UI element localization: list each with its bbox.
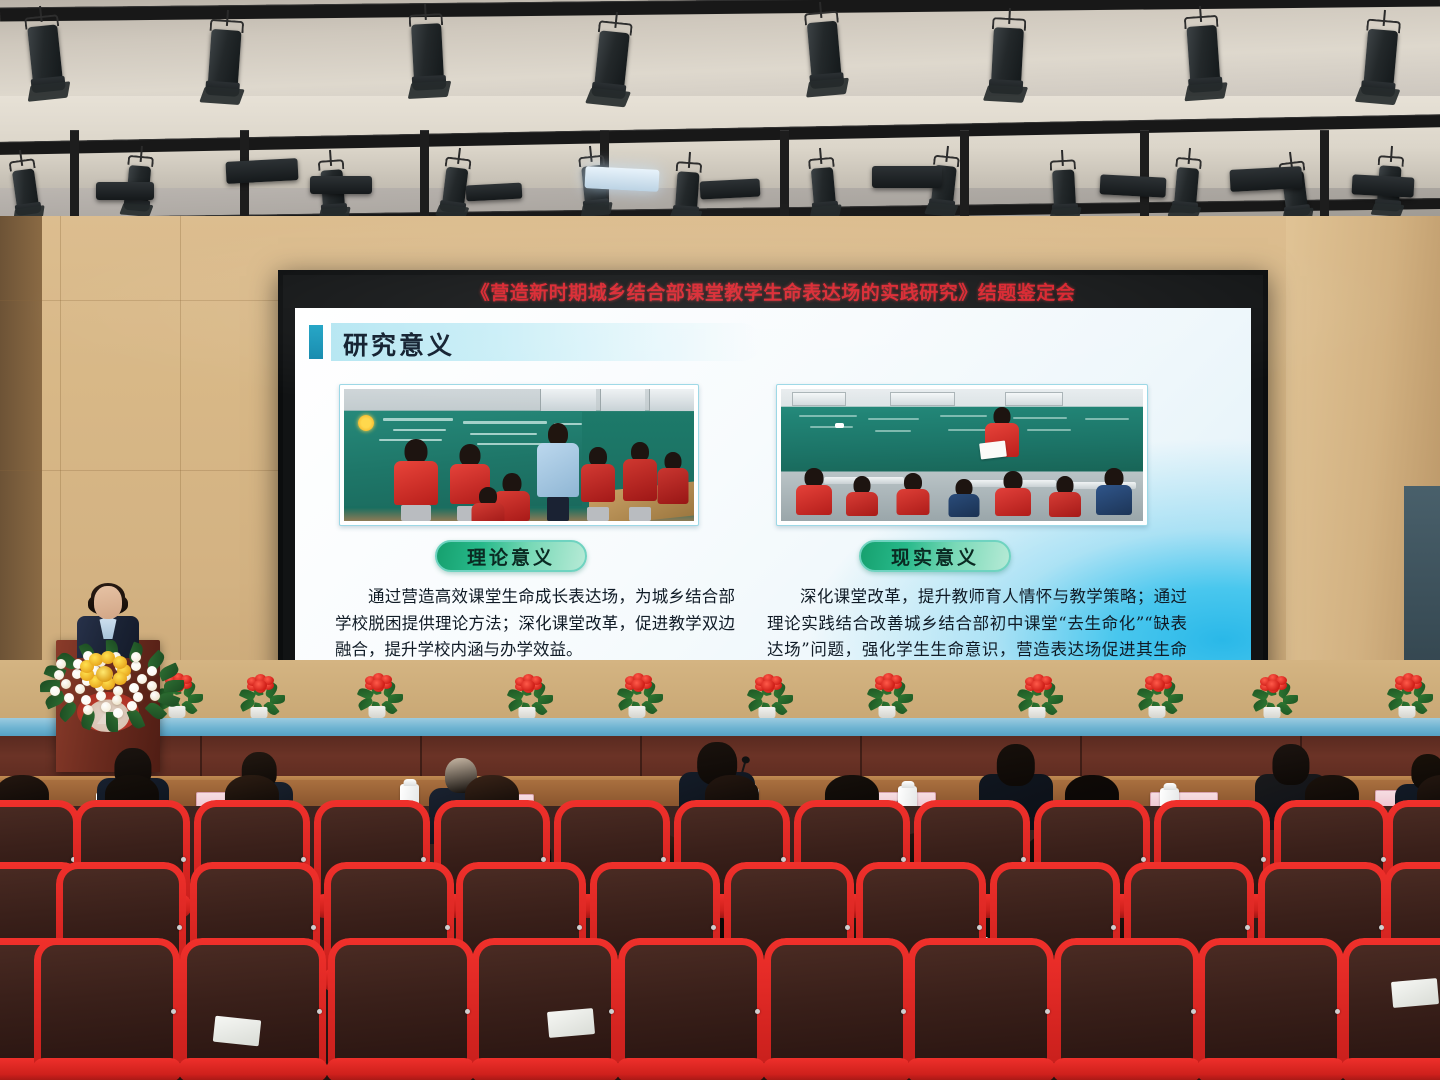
truss-support-7 bbox=[1320, 130, 1329, 226]
panel-light-5 bbox=[1100, 174, 1167, 197]
handout-paper-1 bbox=[213, 1016, 261, 1047]
photo-classroom-presentation bbox=[781, 389, 1143, 521]
stage-flower-8 bbox=[1130, 672, 1184, 718]
stage-ledge-trim bbox=[0, 718, 1440, 738]
chair-stud bbox=[1261, 857, 1266, 862]
chair-stud bbox=[181, 857, 186, 862]
chair-rim bbox=[34, 938, 180, 1068]
slide-text-theory: 通过营造高效课堂生命成长表达场，为城乡结合部学校脱困提供理论方法；深化课堂改革，… bbox=[335, 584, 735, 664]
chair-seat bbox=[32, 1058, 182, 1080]
truss-support-4 bbox=[780, 130, 789, 226]
slide-header-accent-bar bbox=[309, 325, 323, 359]
chair-seat bbox=[762, 1058, 912, 1080]
wall-seam-h0 bbox=[0, 300, 280, 301]
stage-flower-10 bbox=[1380, 672, 1434, 718]
photo-chalkboard-activity bbox=[344, 389, 694, 521]
chair-seat bbox=[470, 1058, 620, 1080]
panel-light-4 bbox=[872, 166, 942, 188]
slide-badge-row: 理论意义 现实意义 bbox=[339, 540, 1219, 574]
stage-flower-3 bbox=[500, 673, 554, 719]
stage-flower-6 bbox=[860, 672, 914, 718]
chair-stud bbox=[755, 1009, 760, 1014]
chair-rim bbox=[1198, 938, 1344, 1068]
chair-seat bbox=[1052, 1058, 1202, 1080]
slide-photo-group bbox=[339, 384, 1219, 526]
auditorium-chair[interactable] bbox=[478, 944, 612, 1062]
chair-stud bbox=[541, 857, 546, 862]
chair-rim bbox=[328, 938, 474, 1068]
chair-stud bbox=[1021, 857, 1026, 862]
led-screen-surface: 《营造新时期城乡结合部课堂教学生命表达场的实践研究》结题鉴定会 研究意义 bbox=[283, 275, 1263, 677]
wall-seam-h1 bbox=[0, 470, 280, 471]
chair-stud bbox=[1141, 857, 1146, 862]
chair-stud bbox=[301, 857, 306, 862]
chair-stud bbox=[609, 1009, 614, 1014]
panel-light-2 bbox=[584, 166, 659, 192]
chair-seat bbox=[326, 1058, 476, 1080]
slide-header: 研究意义 bbox=[309, 322, 789, 362]
stage-flower-7 bbox=[1010, 673, 1064, 719]
auditorium-chair[interactable] bbox=[1060, 944, 1194, 1062]
chair-rim bbox=[618, 938, 764, 1068]
panel-light-3 bbox=[700, 178, 761, 199]
auditorium-chair[interactable] bbox=[624, 944, 758, 1062]
chair-stud bbox=[781, 857, 786, 862]
chair-stud bbox=[171, 1009, 176, 1014]
truss-support-2 bbox=[420, 130, 429, 226]
stage-flower-4 bbox=[610, 672, 664, 718]
badge-practical-significance: 现实意义 bbox=[859, 540, 1011, 572]
badge-theory-significance: 理论意义 bbox=[435, 540, 587, 572]
truss-support-5 bbox=[960, 130, 969, 226]
chair-rim bbox=[908, 938, 1054, 1068]
chair-seat bbox=[1196, 1058, 1346, 1080]
handout-paper-2 bbox=[1391, 978, 1439, 1008]
panel-light-7 bbox=[96, 182, 154, 200]
presentation-slide: 研究意义 bbox=[295, 308, 1251, 669]
chair-rim bbox=[472, 938, 618, 1068]
badge-theory-label: 理论意义 bbox=[467, 543, 555, 570]
podium-flower-bouquet bbox=[36, 638, 186, 724]
panel-light-6 bbox=[1229, 166, 1302, 192]
chair-stud bbox=[465, 1009, 470, 1014]
conference-banner: 《营造新时期城乡结合部课堂教学生命表达场的实践研究》结题鉴定会 bbox=[283, 275, 1263, 308]
chair-seat bbox=[178, 1058, 328, 1080]
auditorium-chair[interactable] bbox=[334, 944, 468, 1062]
chair-stud bbox=[1191, 1009, 1196, 1014]
chair-stud bbox=[901, 1009, 906, 1014]
chair-rim bbox=[180, 938, 326, 1068]
chair-seat bbox=[1340, 1058, 1440, 1080]
auditorium-chair[interactable] bbox=[40, 944, 174, 1062]
panel-light-8 bbox=[1352, 174, 1415, 197]
stage-flower-2 bbox=[350, 672, 404, 718]
handout-paper-0 bbox=[547, 1008, 595, 1038]
presenter-head bbox=[94, 586, 122, 619]
conference-banner-text: 《营造新时期城乡结合部课堂教学生命表达场的实践研究》结题鉴定会 bbox=[471, 278, 1076, 305]
slide-title: 研究意义 bbox=[343, 326, 455, 362]
truss-support-0 bbox=[70, 130, 79, 226]
stage-flower-9 bbox=[1245, 673, 1299, 719]
front-row-head bbox=[997, 744, 1035, 786]
chair-stud bbox=[421, 857, 426, 862]
stage-lower-wall bbox=[0, 660, 1440, 720]
chair-seat bbox=[906, 1058, 1056, 1080]
chair-stud bbox=[1335, 1009, 1340, 1014]
badge-practical-label: 现实意义 bbox=[891, 543, 979, 570]
slide-text-practice: 深化课堂改革，提升教师育人情怀与教学策略；通过理论实践结合改善城乡结合部初中课堂… bbox=[767, 584, 1187, 669]
chair-stud bbox=[901, 857, 906, 862]
chair-rim bbox=[1054, 938, 1200, 1068]
chair-seat bbox=[616, 1058, 766, 1080]
auditorium-chair[interactable] bbox=[1204, 944, 1338, 1062]
auditorium-chair[interactable] bbox=[914, 944, 1048, 1062]
led-screen: 《营造新时期城乡结合部课堂教学生命表达场的实践研究》结题鉴定会 研究意义 bbox=[278, 270, 1268, 682]
panel-light-1 bbox=[310, 176, 372, 194]
panel-light-9 bbox=[466, 183, 523, 202]
stage-flower-1 bbox=[232, 673, 286, 719]
panel-light-0 bbox=[225, 158, 298, 184]
chair-stud bbox=[1045, 1009, 1050, 1014]
stage-flower-5 bbox=[740, 673, 794, 719]
chair-rim bbox=[764, 938, 910, 1068]
slide-photo-theory bbox=[339, 384, 699, 526]
auditorium-scene: 《营造新时期城乡结合部课堂教学生命表达场的实践研究》结题鉴定会 研究意义 bbox=[0, 0, 1440, 1080]
slide-photo-practice bbox=[776, 384, 1148, 526]
auditorium-chair[interactable] bbox=[770, 944, 904, 1062]
chair-stud bbox=[661, 857, 666, 862]
chair-stud bbox=[317, 1009, 322, 1014]
